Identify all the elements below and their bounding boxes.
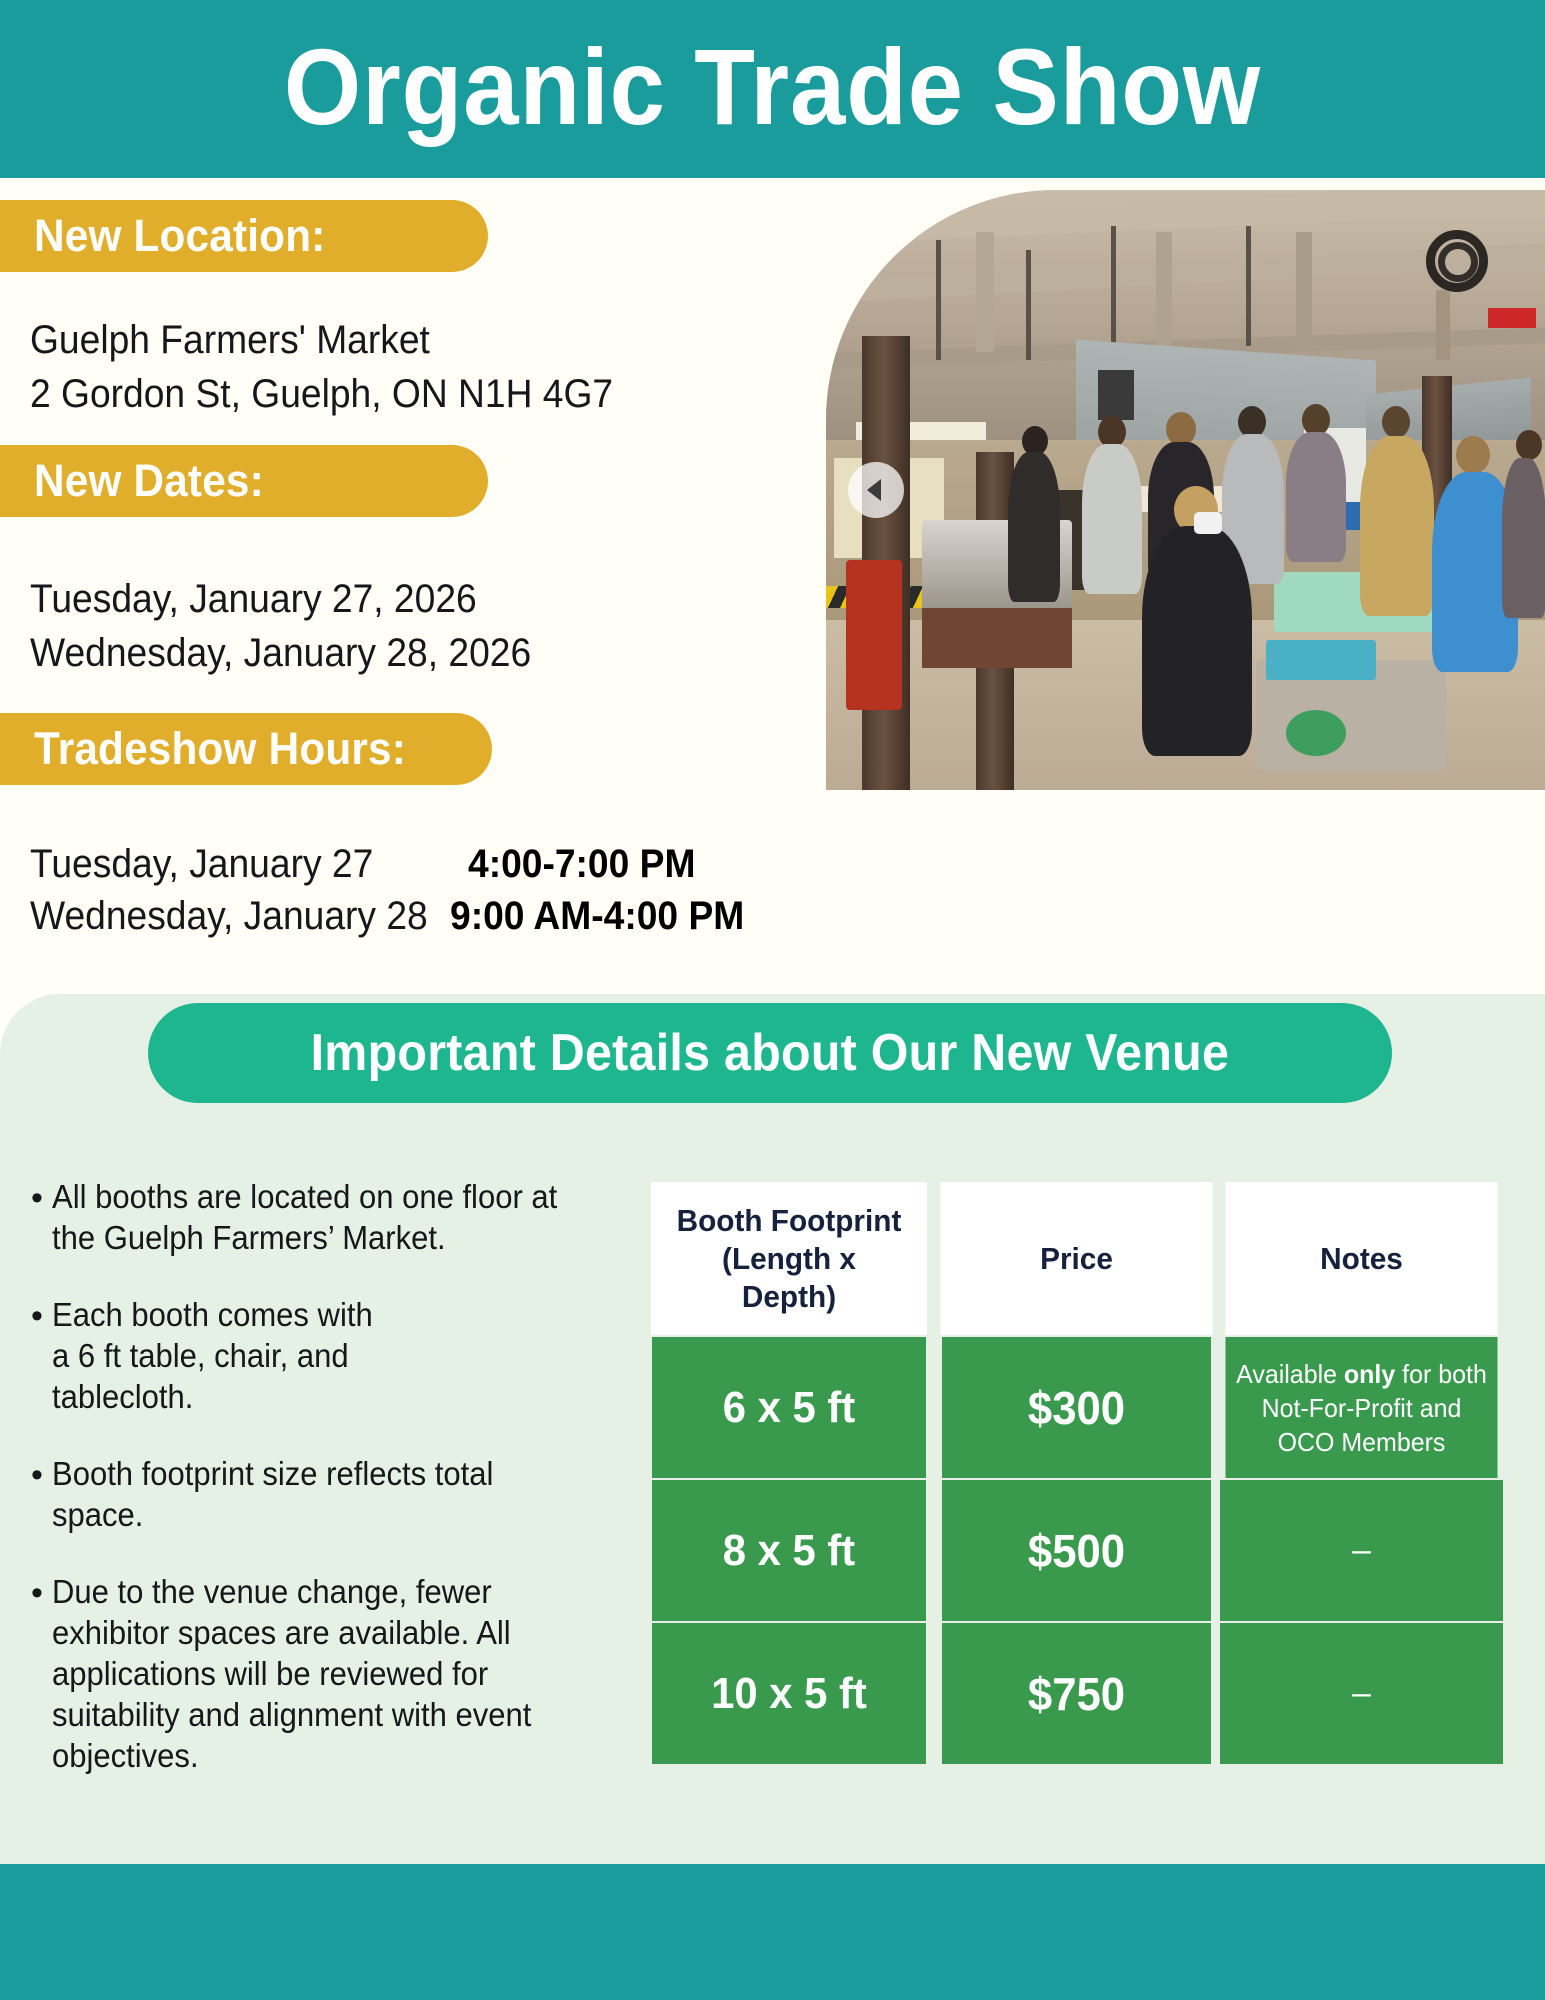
hours-day: Tuesday, January 27 (30, 838, 421, 890)
badge-new-dates: New Dates: (0, 445, 488, 517)
dates-text: Tuesday, January 27, 2026 Wednesday, Jan… (30, 572, 531, 680)
hanging-pipe (1246, 226, 1251, 346)
badge-tradeshow-hours: Tradeshow Hours: (0, 713, 492, 785)
column-header-footprint: Booth Footprint (Length x Depth) (650, 1181, 928, 1336)
column-header-price: Price (940, 1181, 1214, 1336)
cell-notes: – (1219, 1622, 1504, 1765)
person (1082, 444, 1142, 594)
hours-time: 4:00-7:00 PM (468, 838, 695, 890)
person-head (1166, 412, 1196, 446)
cell-footprint: 8 x 5 ft (651, 1479, 927, 1622)
bullet-dot-icon: • (22, 1571, 52, 1776)
cell-notes: Available only for both Not-For-Profit a… (1225, 1336, 1499, 1479)
hours-row: Wednesday, January 28 9:00 AM-4:00 PM (30, 890, 766, 942)
list-item-text: Due to the venue change, fewer exhibitor… (52, 1571, 597, 1776)
person (1008, 452, 1060, 602)
note-emphasis: only (1344, 1359, 1395, 1389)
badge-new-dates-label: New Dates: (34, 455, 264, 507)
list-item: • Booth footprint size reflects total sp… (22, 1453, 632, 1535)
exit-sign (1488, 308, 1536, 328)
hanging-pipe (1111, 226, 1116, 346)
table-row: 6 x 5 ft $300 Available only for both No… (644, 1336, 1504, 1479)
person-foreground (1142, 526, 1252, 756)
tradeshow-hours-list: Tuesday, January 27 4:00-7:00 PM Wednesd… (30, 838, 766, 942)
table-row: 8 x 5 ft $500 – (644, 1479, 1504, 1622)
person-head (1456, 436, 1490, 474)
cell-footprint: 6 x 5 ft (651, 1336, 927, 1479)
duct-panel (1098, 370, 1134, 420)
venue-details-banner: Important Details about Our New Venue (148, 1003, 1392, 1103)
person (1286, 432, 1346, 562)
carousel-prev-button[interactable] (848, 462, 904, 518)
ceiling-strut (1156, 232, 1172, 352)
ceiling-strut (976, 232, 994, 352)
badge-tradeshow-hours-label: Tradeshow Hours: (34, 723, 406, 775)
hanging-pipe (936, 240, 941, 360)
ceiling-strut (1296, 232, 1312, 352)
ceiling-strut (1436, 290, 1450, 360)
person (1502, 458, 1545, 618)
location-text: Guelph Farmers' Market 2 Gordon St, Guel… (30, 313, 613, 421)
list-item: • Each booth comes with a 6 ft table, ch… (22, 1294, 632, 1417)
hours-row: Tuesday, January 27 4:00-7:00 PM (30, 838, 766, 890)
footer-bar (0, 1864, 1545, 2000)
person (1360, 436, 1434, 616)
cable-coil-icon (1438, 242, 1478, 282)
cell-price: $500 (941, 1479, 1212, 1622)
person-head (1382, 406, 1410, 438)
table-row: 10 x 5 ft $750 – (644, 1622, 1504, 1765)
list-item-text: Each booth comes with a 6 ft table, chai… (52, 1294, 597, 1417)
badge-new-location-label: New Location: (34, 210, 326, 262)
person-head (1516, 430, 1542, 460)
list-item-text: Booth footprint size reflects total spac… (52, 1453, 597, 1535)
cell-price: $750 (941, 1622, 1212, 1765)
chevron-left-icon (867, 479, 881, 501)
bullet-dot-icon: • (22, 1176, 52, 1258)
face-mask (1194, 512, 1222, 534)
venue-details-banner-label: Important Details about Our New Venue (311, 1023, 1230, 1083)
hanging-pipe (1026, 250, 1031, 360)
glass-ornament (1286, 710, 1346, 756)
hours-time: 9:00 AM-4:00 PM (450, 890, 744, 942)
poster-red (846, 560, 902, 710)
list-item: • Due to the venue change, fewer exhibit… (22, 1571, 632, 1776)
cell-price: $300 (941, 1336, 1212, 1479)
cell-notes: – (1219, 1479, 1504, 1622)
deli-case-base (922, 608, 1072, 668)
poster-page: Organic Trade Show New Location: Guelph … (0, 0, 1545, 2000)
bullet-dot-icon: • (22, 1453, 52, 1535)
hours-day: Wednesday, January 28 (30, 890, 421, 942)
column-header-notes: Notes (1225, 1181, 1499, 1336)
merchandise-rack (1266, 640, 1376, 680)
booth-pricing-table: Booth Footprint (Length x Depth) Price N… (643, 1180, 1505, 1766)
page-title: Organic Trade Show (62, 12, 1483, 162)
venue-bullet-list: • All booths are located on one floor at… (22, 1176, 632, 1812)
badge-new-location: New Location: (0, 200, 488, 272)
cell-footprint: 10 x 5 ft (651, 1622, 927, 1765)
list-item-text: All booths are located on one floor at t… (52, 1176, 597, 1258)
bullet-dot-icon: • (22, 1294, 52, 1417)
venue-photo-canvas (826, 190, 1545, 790)
venue-photo (826, 190, 1545, 790)
list-item: • All booths are located on one floor at… (22, 1176, 632, 1258)
note-prefix: Available (1236, 1359, 1344, 1389)
table-header-row: Booth Footprint (Length x Depth) Price N… (644, 1181, 1504, 1336)
